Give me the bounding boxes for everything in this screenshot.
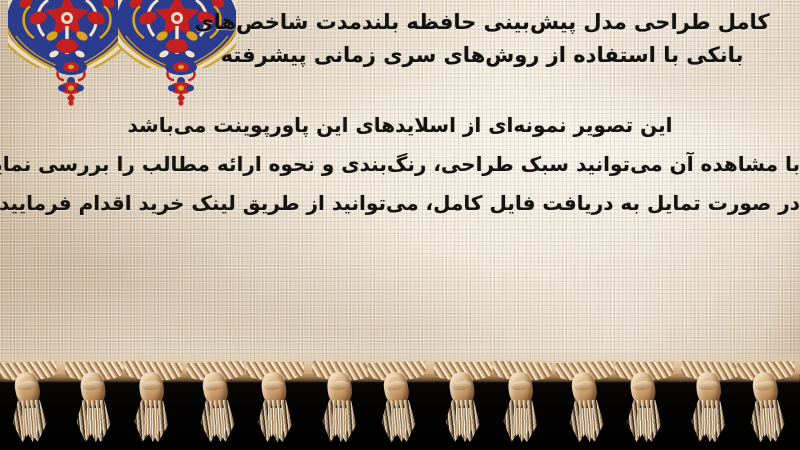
carpet-fringe [0, 362, 800, 450]
slide-title-line-2: بانکی با استفاده از روش‌های سری زمانی پی… [182, 39, 782, 72]
slide-title-line-1: کامل طراحی مدل پیش‌بینی حافظه بلندمدت شا… [182, 6, 782, 39]
carpet-fringe-tassel [609, 362, 681, 450]
carpet-fringe-tassel [240, 362, 312, 450]
slide-title: کامل طراحی مدل پیش‌بینی حافظه بلندمدت شا… [182, 6, 782, 72]
carpet-fringe-tassel [731, 361, 800, 450]
carpet-fringe-tassel [485, 361, 560, 450]
slide-body-line-1: این تصویر نمونه‌ای از اسلایدهای این پاور… [0, 106, 800, 145]
slide-canvas: کامل طراحی مدل پیش‌بینی حافظه بلندمدت شا… [0, 0, 800, 450]
slide-body-line-2: با مشاهده آن می‌توانید سبک طراحی، رنگ‌بن… [0, 145, 800, 184]
text-layer: کامل طراحی مدل پیش‌بینی حافظه بلندمدت شا… [0, 0, 800, 376]
carpet-fringe-tassel [115, 361, 190, 450]
carpet-fringe-tassel [0, 361, 68, 450]
carpet-fringe-tassel [362, 361, 437, 450]
slide-body: این تصویر نمونه‌ای از اسلایدهای این پاور… [0, 106, 800, 223]
slide-body-line-3: در صورت تمایل به دریافت فایل کامل، می‌تو… [0, 184, 800, 223]
